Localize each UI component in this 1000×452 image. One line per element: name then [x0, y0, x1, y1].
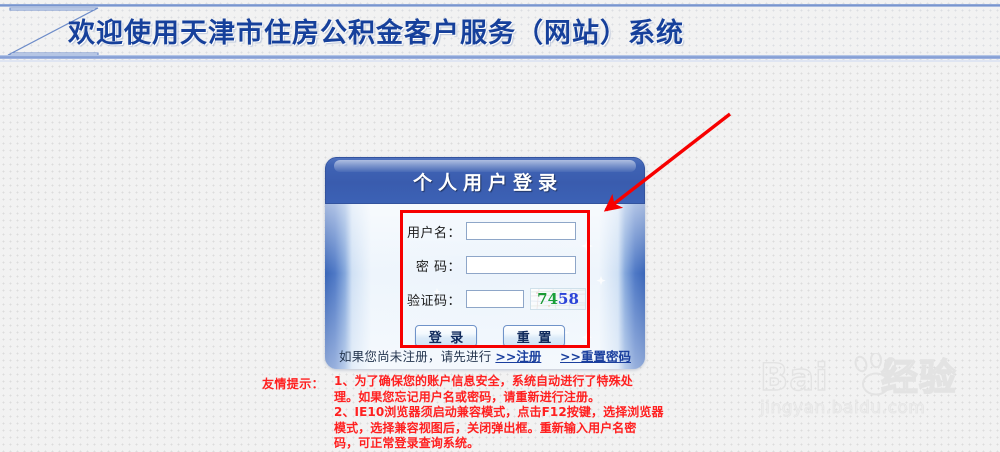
login-panel-body: 用户名： 密 码： 验证码：: [325, 204, 645, 369]
login-submit-button[interactable]: 登 录: [415, 325, 477, 347]
watermark-brand: Bai经验: [760, 358, 996, 398]
tip-line: 模式，选择兼容视图后，关闭弹出框。重新输入用户名密: [334, 421, 722, 437]
login-form: 用户名： 密 码： 验证码：: [325, 218, 645, 347]
banner-top-rule: [0, 4, 1000, 7]
baidu-jingyan-watermark: Bai经验 jingyan.baidu.com: [760, 358, 996, 424]
captcha-digit-4: 8: [568, 290, 578, 308]
captcha-image[interactable]: 7458: [530, 288, 586, 310]
captcha-label: 验证码：: [403, 290, 461, 309]
baidu-paw-icon: [848, 353, 904, 397]
captcha-digit-1: 7: [537, 290, 547, 308]
username-input[interactable]: [466, 222, 576, 240]
watermark-url: jingyan.baidu.com: [760, 398, 996, 418]
register-hint-text: 如果您尚未注册，请先进行: [339, 346, 491, 365]
tips-block: 友情提示： 1、为了确保您的账户信息安全，系统自动进行了特殊处 理。如果您忘记用…: [262, 374, 722, 452]
form-row-username: 用户名：: [325, 218, 645, 244]
reset-password-link[interactable]: >>重置密码: [560, 346, 631, 365]
captcha-digit-2: 4: [548, 290, 558, 308]
login-reset-button[interactable]: 重 置: [503, 325, 565, 347]
tips-label: 友情提示：: [262, 374, 334, 452]
captcha-digit-3: 5: [558, 290, 568, 308]
login-panel-title: 个人用户登录: [325, 168, 645, 195]
tip-line: 2、IE10浏览器须启动兼容模式，点击F12按键，选择浏览器: [334, 405, 722, 421]
login-panel-footer: 如果您尚未注册，请先进行 >>注册 >>重置密码: [325, 346, 645, 365]
site-header-banner: 欢迎使用天津市住房公积金客户服务（网站）系统: [0, 0, 1000, 62]
page-title: 欢迎使用天津市住房公积金客户服务（网站）系统: [68, 11, 968, 50]
password-input[interactable]: [466, 256, 576, 274]
captcha-code: 7458: [531, 290, 585, 308]
captcha-input[interactable]: [466, 290, 524, 308]
login-button-row: 登 录 重 置: [325, 325, 645, 347]
tip-line: 1、为了确保您的账户信息安全，系统自动进行了特殊处: [334, 374, 722, 390]
tips-body: 1、为了确保您的账户信息安全，系统自动进行了特殊处 理。如果您忘记用户名或密码，…: [334, 374, 722, 452]
watermark-brand-left: Bai: [760, 356, 829, 399]
login-panel: 个人用户登录 用户名： 密 码：: [325, 157, 645, 369]
username-label: 用户名：: [403, 222, 461, 241]
register-link[interactable]: >>注册: [495, 346, 541, 365]
watermark-brand-cn: 经验: [881, 356, 957, 399]
tip-line: 理。如果您忘记用户名或密码，请重新进行注册。: [334, 390, 722, 406]
banner-bottom-rule-2: [0, 60, 1000, 62]
form-row-captcha: 验证码：: [325, 286, 645, 312]
login-panel-titlebar: 个人用户登录: [325, 157, 645, 204]
form-row-password: 密 码：: [325, 252, 645, 278]
banner-bottom-rule: [0, 55, 1000, 59]
password-label: 密 码：: [403, 256, 461, 275]
tip-line: 码，可正常登录查询系统。: [334, 436, 722, 452]
